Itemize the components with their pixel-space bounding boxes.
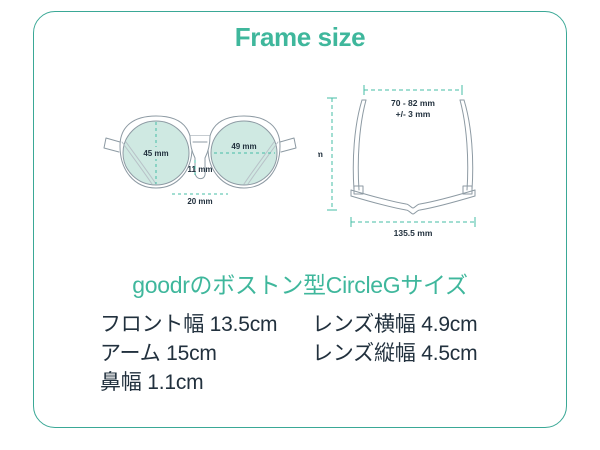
label-lens-width: 49 mm	[231, 142, 256, 151]
left-temple-outer	[353, 100, 362, 190]
spec-heading: goodrのボストン型CircleGサイズ	[0, 266, 600, 300]
frame-size-infographic: Frame size	[0, 0, 600, 450]
diagram-area: 45 mm 49 mm 11 mm 20 mm	[40, 78, 560, 253]
right-temple-outer	[464, 100, 473, 190]
table-row: 鼻幅 1.1cm	[100, 366, 510, 395]
left-endpiece	[104, 138, 120, 152]
sunglasses-front-view: 45 mm 49 mm 11 mm 20 mm	[100, 98, 300, 218]
front-frame-bottom-edge	[351, 196, 475, 214]
spec-lens-width: レンズ横幅 4.9cm	[312, 308, 510, 338]
front-frame-top-edge	[351, 190, 475, 208]
table-row: フロント幅 13.5cm レンズ横幅 4.9cm	[100, 308, 510, 337]
label-bridge-width: 20 mm	[187, 197, 212, 206]
right-endpiece	[280, 138, 296, 152]
left-temple-inner	[358, 100, 366, 190]
spec-table: フロント幅 13.5cm レンズ横幅 4.9cm アーム 15cm レンズ縦幅 …	[100, 308, 510, 395]
label-front-width: 135.5 mm	[394, 228, 433, 238]
spec-front-width: フロント幅 13.5cm	[100, 308, 312, 338]
label-temple-length: 150 mm	[318, 149, 323, 159]
sunglasses-top-view: 70 - 82 mm +/- 3 mm 135.5 mm 150 mm	[318, 78, 508, 238]
label-temple-spread: 70 - 82 mm	[391, 98, 435, 108]
label-lens-height: 45 mm	[143, 149, 168, 158]
page-title: Frame size	[0, 22, 600, 53]
spec-lens-height: レンズ縦幅 4.5cm	[312, 337, 510, 367]
right-temple-inner	[460, 100, 468, 190]
table-row: アーム 15cm レンズ縦幅 4.5cm	[100, 337, 510, 366]
label-bridge-height: 11 mm	[188, 165, 213, 174]
label-temple-tolerance: +/- 3 mm	[396, 109, 431, 119]
spec-arm-length: アーム 15cm	[100, 337, 312, 367]
spec-bridge-width: 鼻幅 1.1cm	[100, 366, 312, 396]
